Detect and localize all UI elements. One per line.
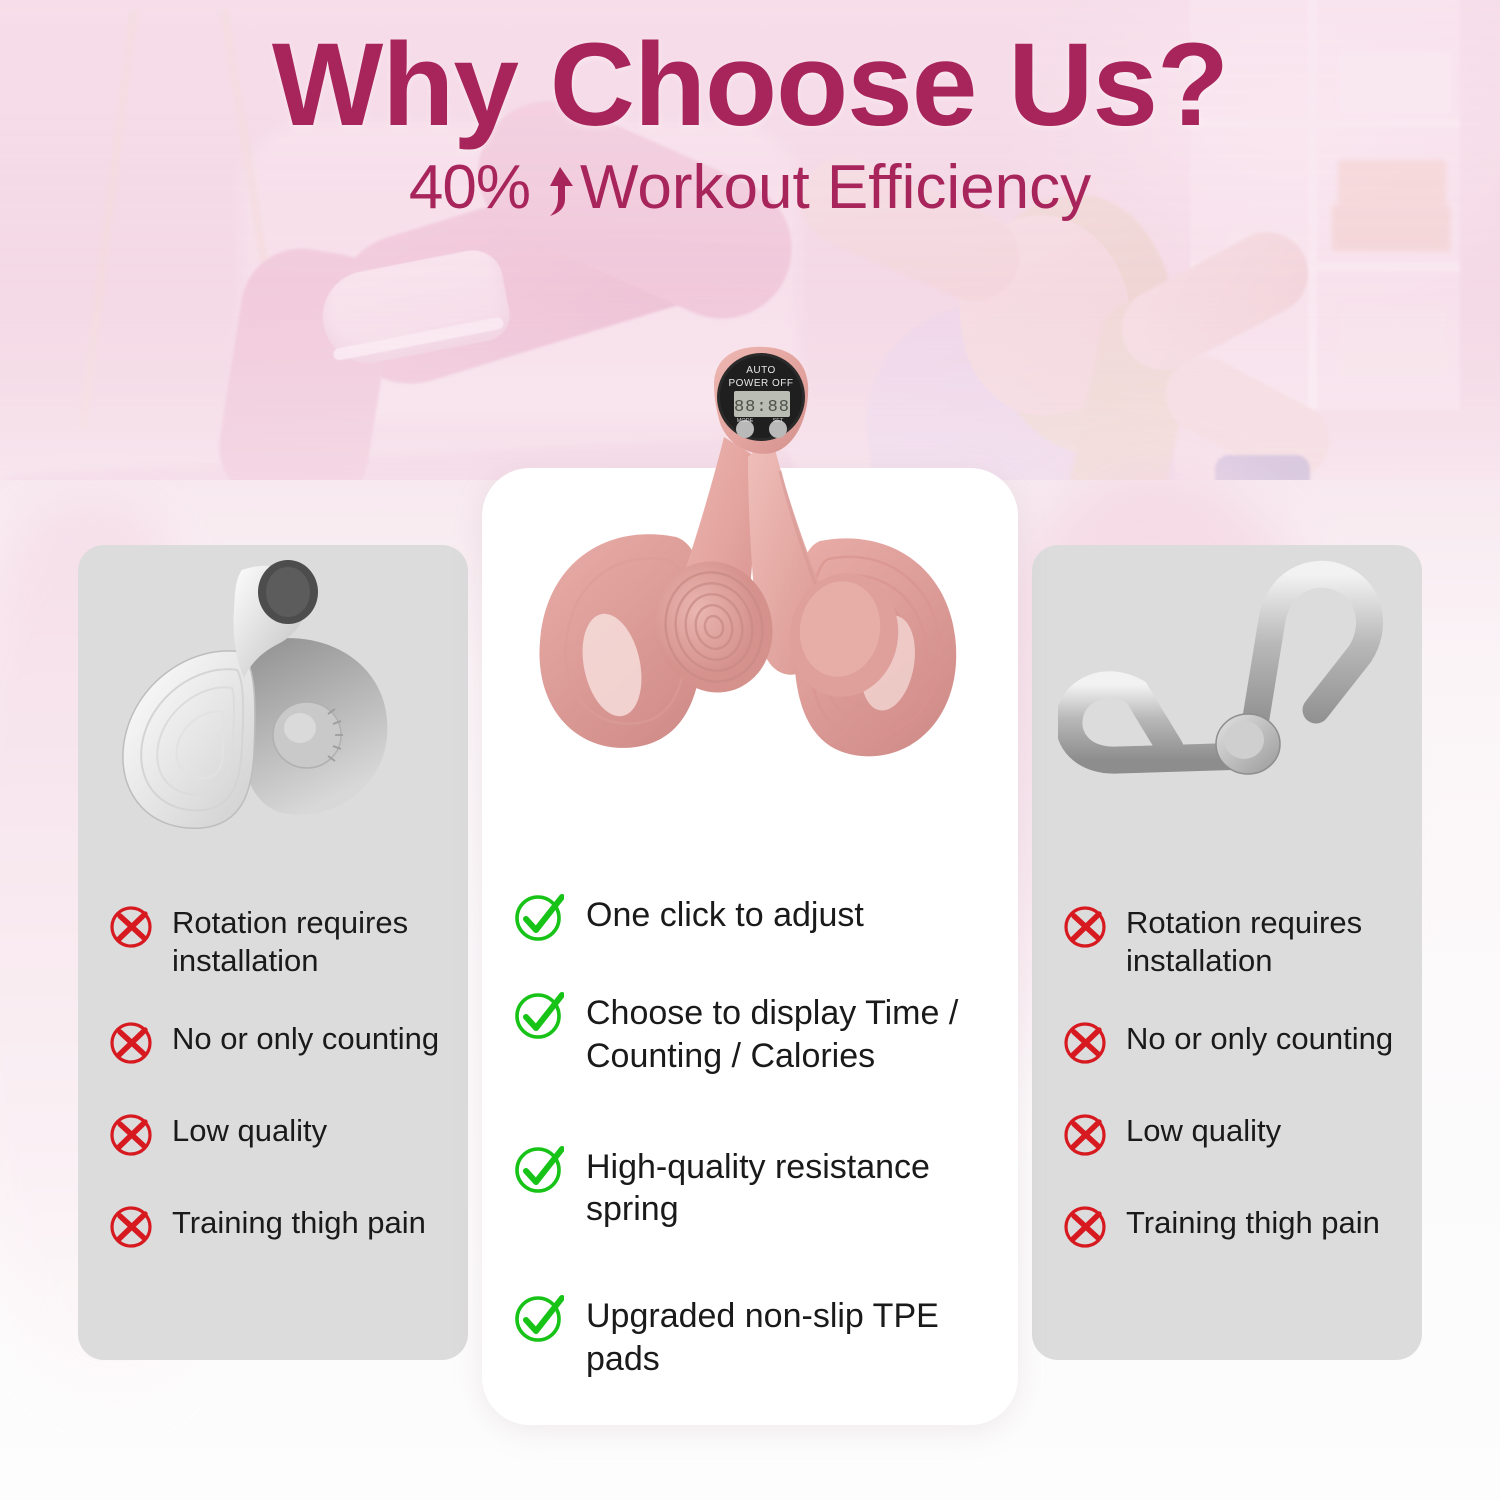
list-item-label: Rotation requires installation xyxy=(172,900,448,980)
competitor-thigh-master-gray-icon xyxy=(1058,560,1408,840)
list-item: Training thigh pain xyxy=(108,1200,448,1250)
list-item: Low quality xyxy=(108,1108,448,1158)
pink-thigh-exerciser-icon: AUTO POWER OFF 88:88 MODE SET xyxy=(528,345,968,805)
cross-icon xyxy=(108,1020,154,1066)
list-item-label: High-quality resistance spring xyxy=(586,1142,1012,1232)
arrow-up-icon xyxy=(532,159,576,217)
check-icon xyxy=(512,990,564,1042)
list-item-label: Training thigh pain xyxy=(1126,1200,1380,1242)
list-item: Choose to display Time / Counting / Calo… xyxy=(512,988,1012,1078)
list-item-label: Low quality xyxy=(1126,1108,1281,1150)
check-icon xyxy=(512,892,564,944)
list-item-label: No or only counting xyxy=(1126,1016,1393,1058)
competitor-thigh-trainer-white-icon xyxy=(92,552,402,852)
header: Why Choose Us? 40% Workout Efficiency xyxy=(0,0,1500,223)
svg-text:SET: SET xyxy=(773,418,784,424)
cross-icon xyxy=(1062,1204,1108,1250)
list-item: No or only counting xyxy=(1062,1016,1412,1066)
list-item-label: Upgraded non-slip TPE pads xyxy=(586,1291,1012,1381)
cross-icon xyxy=(1062,1112,1108,1158)
list-item: Rotation requires installation xyxy=(1062,900,1412,980)
check-icon xyxy=(512,1144,564,1196)
list-item-label: Choose to display Time / Counting / Calo… xyxy=(586,988,1012,1078)
list-item-label: One click to adjust xyxy=(586,890,864,937)
svg-text:MODE: MODE xyxy=(737,418,754,424)
list-item-label: Rotation requires installation xyxy=(1126,900,1412,980)
list-item: Rotation requires installation xyxy=(108,900,448,980)
feature-list-center: One click to adjust Choose to display Ti… xyxy=(512,890,1012,1425)
list-item-label: Low quality xyxy=(172,1108,327,1150)
feature-list-right: Rotation requires installation No or onl… xyxy=(1062,900,1412,1250)
cross-icon xyxy=(1062,904,1108,950)
cross-icon xyxy=(108,904,154,950)
list-item: Upgraded non-slip TPE pads xyxy=(512,1291,1012,1381)
list-item-label: No or only counting xyxy=(172,1016,439,1058)
feature-list-left: Rotation requires installation No or onl… xyxy=(108,900,448,1250)
svg-text:AUTO: AUTO xyxy=(746,365,776,376)
svg-text:POWER OFF: POWER OFF xyxy=(728,378,793,389)
subtitle-percent: 40% xyxy=(409,152,530,223)
cross-icon xyxy=(108,1112,154,1158)
cross-icon xyxy=(1062,1020,1108,1066)
page-title: Why Choose Us? xyxy=(0,26,1500,144)
check-icon xyxy=(512,1293,564,1345)
list-item: No or only counting xyxy=(108,1016,448,1066)
list-item: High-quality resistance spring xyxy=(512,1142,1012,1232)
subtitle-text: Workout Efficiency xyxy=(580,152,1091,223)
subtitle: 40% Workout Efficiency xyxy=(0,152,1500,223)
list-item: Low quality xyxy=(1062,1108,1412,1158)
list-item: Training thigh pain xyxy=(1062,1200,1412,1250)
list-item: One click to adjust xyxy=(512,890,1012,944)
cross-icon xyxy=(108,1204,154,1250)
list-item-label: Training thigh pain xyxy=(172,1200,426,1242)
svg-text:88:88: 88:88 xyxy=(734,398,790,417)
